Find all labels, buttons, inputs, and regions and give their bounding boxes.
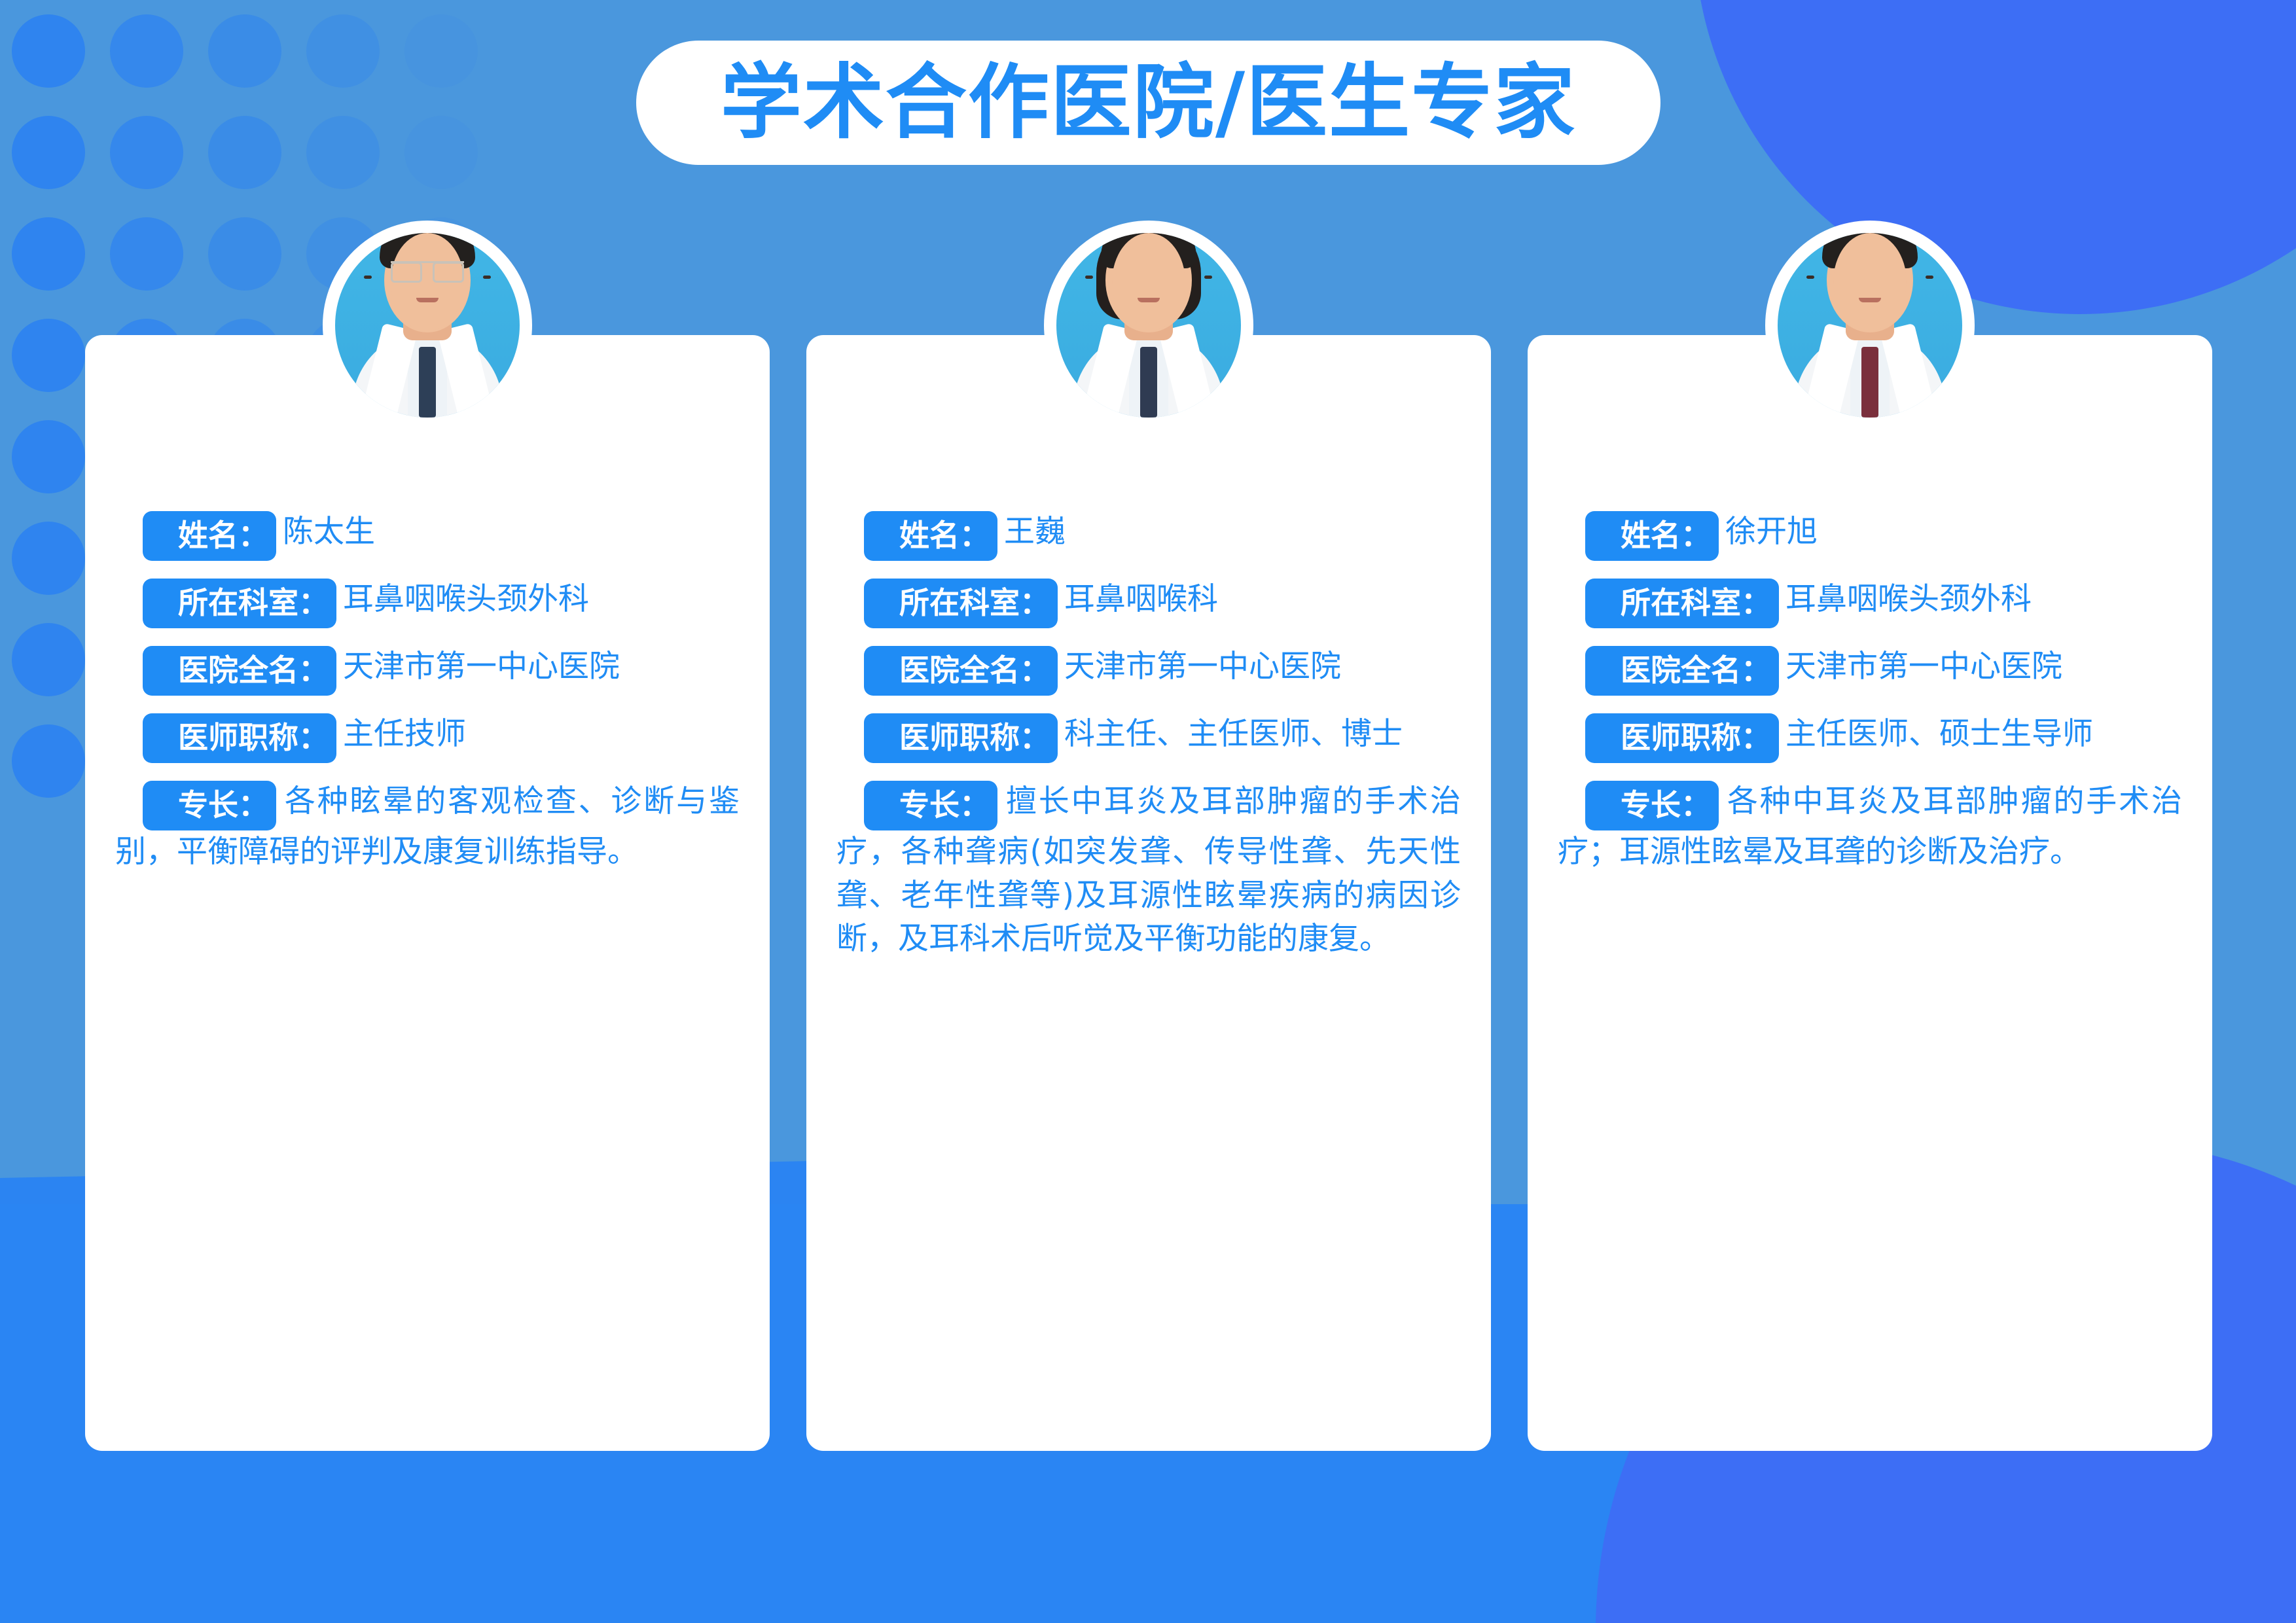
doctor-card-list: 姓名：陈太生 所在科室：耳鼻咽喉头颈外科 医院全名：天津市第一中心医院 医师职称… <box>0 0 2296 1623</box>
doctor-card-body: 姓名：王巍 所在科室：耳鼻咽喉科 医院全名：天津市第一中心医院 医师职称：科主任… <box>806 335 1491 1451</box>
label-department: 所在科室： <box>864 579 1058 628</box>
label-department: 所在科室： <box>143 579 336 628</box>
label-name: 姓名： <box>143 511 276 561</box>
label-title: 医师职称： <box>143 713 336 763</box>
label-name: 姓名： <box>864 511 997 561</box>
field-department: 所在科室：耳鼻咽喉头颈外科 <box>1558 578 2182 628</box>
label-hospital: 医院全名： <box>1585 646 1779 696</box>
label-title: 医师职称： <box>864 713 1058 763</box>
value-hospital: 天津市第一中心医院 <box>343 649 620 685</box>
field-name: 姓名：徐开旭 <box>1558 510 2182 561</box>
label-specialty: 专长： <box>864 781 997 830</box>
doctor-card[interactable]: 姓名：徐开旭 所在科室：耳鼻咽喉头颈外科 医院全名：天津市第一中心医院 医师职称… <box>1528 335 2212 1451</box>
doctor-card-body: 姓名：徐开旭 所在科室：耳鼻咽喉头颈外科 医院全名：天津市第一中心医院 医师职称… <box>1528 335 2212 1451</box>
doctor-card[interactable]: 姓名：王巍 所在科室：耳鼻咽喉科 医院全名：天津市第一中心医院 医师职称：科主任… <box>806 335 1491 1451</box>
value-title: 科主任、主任医师、博士 <box>1064 716 1403 752</box>
field-title: 医师职称：主任医师、硕士生导师 <box>1558 713 2182 763</box>
value-department: 耳鼻咽喉头颈外科 <box>343 581 589 617</box>
avatar <box>1765 221 1975 430</box>
field-specialty: 专长：各种中耳炎及耳部肿瘤的手术治疗；耳源性眩晕及耳聋的诊断及治疗。 <box>1558 780 2182 874</box>
label-hospital: 医院全名： <box>143 646 336 696</box>
doctor-card[interactable]: 姓名：陈太生 所在科室：耳鼻咽喉头颈外科 医院全名：天津市第一中心医院 医师职称… <box>85 335 770 1451</box>
value-name: 陈太生 <box>283 514 375 550</box>
value-hospital: 天津市第一中心医院 <box>1785 649 2062 685</box>
label-title: 医师职称： <box>1585 713 1779 763</box>
doctor-portrait-icon <box>1056 233 1241 418</box>
avatar <box>323 221 532 430</box>
field-specialty: 专长：擅长中耳炎及耳部肿瘤的手术治疗，各种聋病(如突发聋、传导性聋、先天性聋、老… <box>836 780 1461 961</box>
avatar <box>1044 221 1253 430</box>
field-hospital: 医院全名：天津市第一中心医院 <box>1558 645 2182 696</box>
value-title: 主任医师、硕士生导师 <box>1785 716 2093 752</box>
field-title: 医师职称：主任技师 <box>115 713 740 763</box>
field-department: 所在科室：耳鼻咽喉科 <box>836 578 1461 628</box>
field-name: 姓名：陈太生 <box>115 510 740 561</box>
value-department: 耳鼻咽喉头颈外科 <box>1785 581 2032 617</box>
label-specialty: 专长： <box>143 781 276 830</box>
doctor-portrait-icon <box>335 233 520 418</box>
value-hospital: 天津市第一中心医院 <box>1064 649 1341 685</box>
value-title: 主任技师 <box>343 716 466 752</box>
field-title: 医师职称：科主任、主任医师、博士 <box>836 713 1461 763</box>
page-title: 学术合作医院/医生专家 <box>721 62 1576 143</box>
field-hospital: 医院全名：天津市第一中心医院 <box>836 645 1461 696</box>
doctor-card-body: 姓名：陈太生 所在科室：耳鼻咽喉头颈外科 医院全名：天津市第一中心医院 医师职称… <box>85 335 770 1451</box>
value-name: 徐开旭 <box>1725 514 1818 550</box>
field-hospital: 医院全名：天津市第一中心医院 <box>115 645 740 696</box>
field-specialty: 专长：各种眩晕的客观检查、诊断与鉴别，平衡障碍的评判及康复训练指导。 <box>115 780 740 874</box>
value-name: 王巍 <box>1004 514 1066 550</box>
page-title-pill: 学术合作医院/医生专家 <box>636 41 1660 165</box>
label-specialty: 专长： <box>1585 781 1719 830</box>
field-department: 所在科室：耳鼻咽喉头颈外科 <box>115 578 740 628</box>
value-department: 耳鼻咽喉科 <box>1064 581 1218 617</box>
field-name: 姓名：王巍 <box>836 510 1461 561</box>
poster-page: 学术合作医院/医生专家 <box>0 0 2296 1623</box>
doctor-portrait-icon <box>1778 233 1962 418</box>
label-hospital: 医院全名： <box>864 646 1058 696</box>
label-department: 所在科室： <box>1585 579 1779 628</box>
label-name: 姓名： <box>1585 511 1719 561</box>
